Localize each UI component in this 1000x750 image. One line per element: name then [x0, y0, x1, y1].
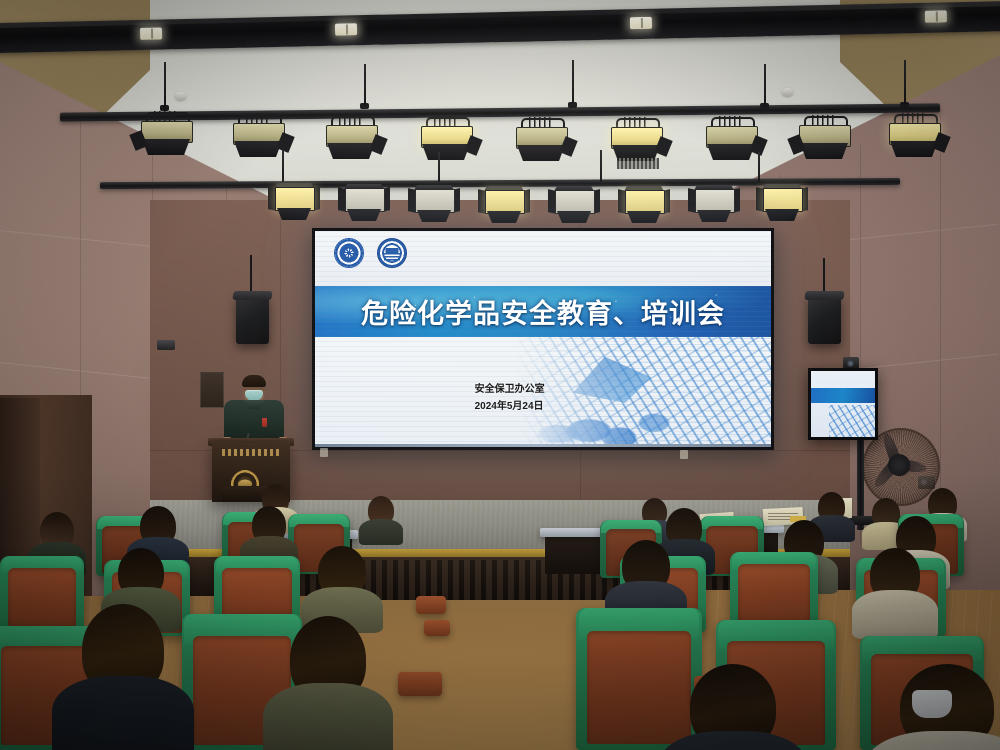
monitor-screen: [811, 371, 875, 437]
stage-light-fresnel: [232, 114, 284, 158]
wall-control-panel[interactable]: [200, 372, 224, 408]
ceiling-downlight-pair: [925, 10, 947, 22]
wall-speaker-left: [236, 296, 269, 344]
truss-hanger: [758, 152, 760, 182]
truss-hanger: [364, 64, 366, 106]
presenter-badge: [262, 418, 267, 427]
slide-subtitle-block: 安全保卫办公室 2024年5月24日: [475, 381, 545, 416]
ceiling-smoke-detector: [782, 88, 793, 96]
audience-person: [666, 508, 702, 548]
stage-light-fresnel: [705, 117, 757, 161]
stage-light-fresnel: [515, 118, 567, 162]
auditorium-photo: 危险化学品安全教育、培训会 安全保卫办公室 2024年5月24日: [0, 0, 1000, 750]
university-seal-logo: [377, 238, 407, 268]
stage-light-panel: [692, 185, 736, 223]
seat-armrest: [424, 620, 450, 636]
seat-armrest: [398, 672, 442, 696]
stage-light-fresnel: [420, 117, 472, 161]
truss-hanger: [904, 60, 906, 104]
audience-person: [818, 492, 845, 522]
stage-light-panel: [482, 186, 526, 224]
audience-person: [622, 540, 670, 592]
auditorium-seat[interactable]: [730, 552, 818, 630]
audience-person: [118, 548, 164, 598]
slide-title: 危险化学品安全教育、培训会: [361, 292, 725, 331]
institute-seal-logo: [334, 238, 364, 268]
truss-hanger: [764, 64, 766, 106]
monitor-stand-post: [857, 430, 864, 530]
audience-person: [870, 548, 920, 602]
slide-body-area: 安全保卫办公室 2024年5月24日: [315, 337, 771, 447]
stage-light-panel: [622, 186, 666, 224]
stage-light-panel: [342, 184, 386, 222]
campus-aerial-line-art: [511, 337, 771, 447]
projection-screen: 危险化学品安全教育、培训会 安全保卫办公室 2024年5月24日: [312, 228, 774, 450]
ceiling-downlight-pair: [335, 23, 357, 35]
fan-hub: [888, 454, 910, 476]
stage-light-fresnel: [798, 116, 850, 160]
stage-light-fresnel: [325, 116, 377, 160]
stage-light-panel: [272, 183, 316, 221]
audience-person: [140, 506, 176, 546]
truss-hanger: [438, 152, 440, 182]
stage-light-fresnel: [610, 118, 662, 162]
truss-hanger: [164, 62, 166, 110]
confidence-monitor: [808, 368, 878, 440]
slide-header-area: [315, 231, 771, 286]
wall-speaker-right: [808, 296, 841, 344]
slide-title-band: 危险化学品安全教育、培训会: [315, 286, 771, 337]
presenter-hair: [242, 375, 266, 387]
monitor-title-band: [811, 388, 875, 403]
truss-hanger: [600, 150, 602, 182]
projected-slide: 危险化学品安全教育、培训会 安全保卫办公室 2024年5月24日: [315, 231, 771, 447]
seat-armrest: [416, 596, 446, 614]
audience-person: [368, 496, 394, 525]
monitor-campus-art: [829, 405, 875, 437]
auditorium-seat[interactable]: [0, 556, 84, 630]
slide-organization: 安全保卫办公室: [475, 381, 545, 399]
wall-vent-grille: [617, 158, 659, 169]
ceiling-downlight-pair: [630, 17, 652, 29]
lectern-nameplate: [222, 449, 282, 456]
wall-mounted-fixture-left: [157, 340, 175, 350]
auditorium-seat[interactable]: [576, 608, 702, 750]
ceiling-smoke-detector: [175, 92, 186, 100]
audience-person-foreground: [82, 604, 164, 696]
stage-light-panel: [552, 186, 596, 224]
audience-face-mask: [912, 690, 952, 718]
ceiling-downlight-pair: [140, 27, 162, 39]
truss-hanger: [282, 150, 284, 182]
truss-hanger: [572, 60, 574, 104]
slide-date: 2024年5月24日: [475, 398, 545, 416]
audience-person: [252, 506, 286, 544]
stage-light-panel: [760, 184, 804, 222]
audience-person-foreground: [290, 616, 366, 702]
stage-light-fresnel: [888, 114, 940, 158]
stage-light-fresnel: [140, 112, 192, 156]
stage-light-panel: [412, 185, 456, 223]
audience-person: [40, 512, 74, 550]
screen-bottom-edge: [315, 444, 771, 447]
audience-person: [318, 546, 366, 598]
audience-person-foreground: [690, 664, 776, 750]
